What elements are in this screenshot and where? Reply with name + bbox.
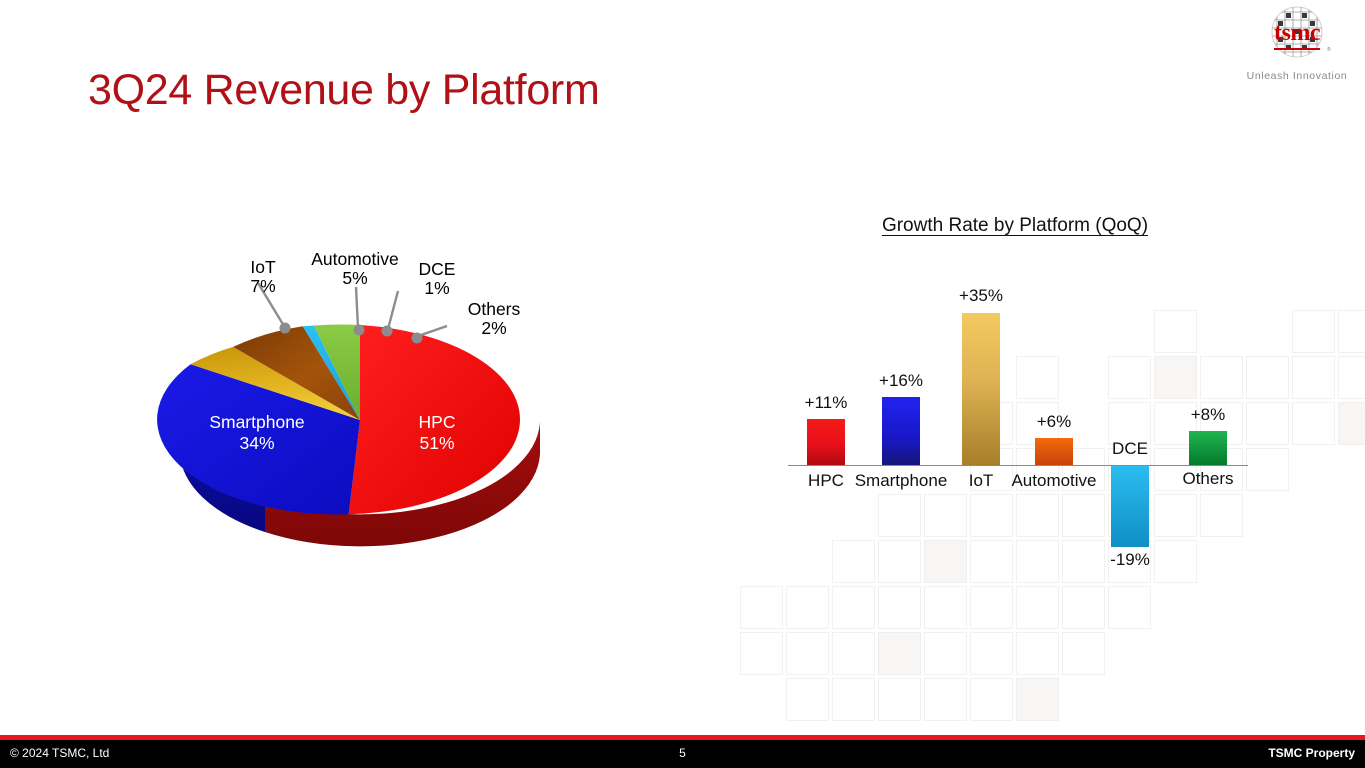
wafer-die-cell (1016, 632, 1059, 675)
pie-label-smartphone-value: 34% (239, 433, 274, 453)
bar-category-smartphone: Smartphone (846, 471, 956, 491)
wafer-die-cell (878, 632, 921, 675)
wafer-die-cell (1016, 678, 1059, 721)
tsmc-wafer-logo-icon: tsmc ® (1255, 6, 1339, 68)
wafer-die-cell (1338, 310, 1365, 353)
bar-value-automotive: +6% (1014, 412, 1094, 432)
tsmc-logo: tsmc ® Unleash Innovation (1237, 6, 1357, 82)
wafer-die-cell (740, 632, 783, 675)
pie-svg: Smartphone 34% HPC 51% (150, 250, 570, 570)
wafer-die-cell (1062, 632, 1105, 675)
bar-chart-title: Growth Rate by Platform (QoQ) (770, 215, 1260, 237)
slide: tsmc ® Unleash Innovation 3Q24 Revenue b… (0, 0, 1365, 768)
wafer-die-cell (1338, 402, 1365, 445)
bar-value-dce: -19% (1090, 550, 1170, 570)
bar-category-dce: DCE (1090, 439, 1170, 459)
wafer-die-cell (970, 632, 1013, 675)
wafer-die-cell (924, 678, 967, 721)
wafer-die-cell (924, 632, 967, 675)
wafer-die-cell (970, 678, 1013, 721)
bar-value-others: +8% (1168, 405, 1248, 425)
footer-property: TSMC Property (1268, 746, 1355, 760)
bar-value-smartphone: +16% (861, 371, 941, 391)
bar-chart-zero-axis (788, 465, 1248, 466)
revenue-pie-chart: Smartphone 34% HPC 51% IoT 7% Automotive… (150, 250, 570, 570)
wafer-die-cell (786, 678, 829, 721)
bar-value-iot: +35% (941, 286, 1021, 306)
wafer-die-cell (832, 632, 875, 675)
wafer-die-cell (832, 678, 875, 721)
pie-label-smartphone-name: Smartphone (209, 412, 304, 432)
wafer-die-cell (1292, 310, 1335, 353)
pie-label-hpc-name: HPC (419, 412, 456, 432)
footer-bar: © 2024 TSMC, Ltd 5 TSMC Property (0, 740, 1365, 768)
bar-value-hpc: +11% (786, 393, 866, 413)
bar-category-automotive: Automotive (999, 471, 1109, 491)
growth-rate-bar-chart: Growth Rate by Platform (QoQ) (770, 215, 1270, 595)
svg-text:tsmc: tsmc (1274, 20, 1321, 46)
wafer-die-cell (1292, 402, 1335, 445)
svg-text:®: ® (1327, 46, 1331, 53)
bar-category-others: Others (1168, 469, 1248, 489)
wafer-die-cell (1292, 356, 1335, 399)
wafer-die-cell (1338, 356, 1365, 399)
pie-label-hpc-value: 51% (419, 433, 454, 453)
logo-tagline: Unleash Innovation (1237, 70, 1357, 82)
wafer-die-cell (786, 632, 829, 675)
wafer-die-cell (878, 678, 921, 721)
page-title: 3Q24 Revenue by Platform (88, 66, 599, 115)
footer-page-number: 5 (0, 746, 1365, 760)
bar-chart-title-text: Growth Rate by Platform (QoQ) (882, 215, 1148, 236)
